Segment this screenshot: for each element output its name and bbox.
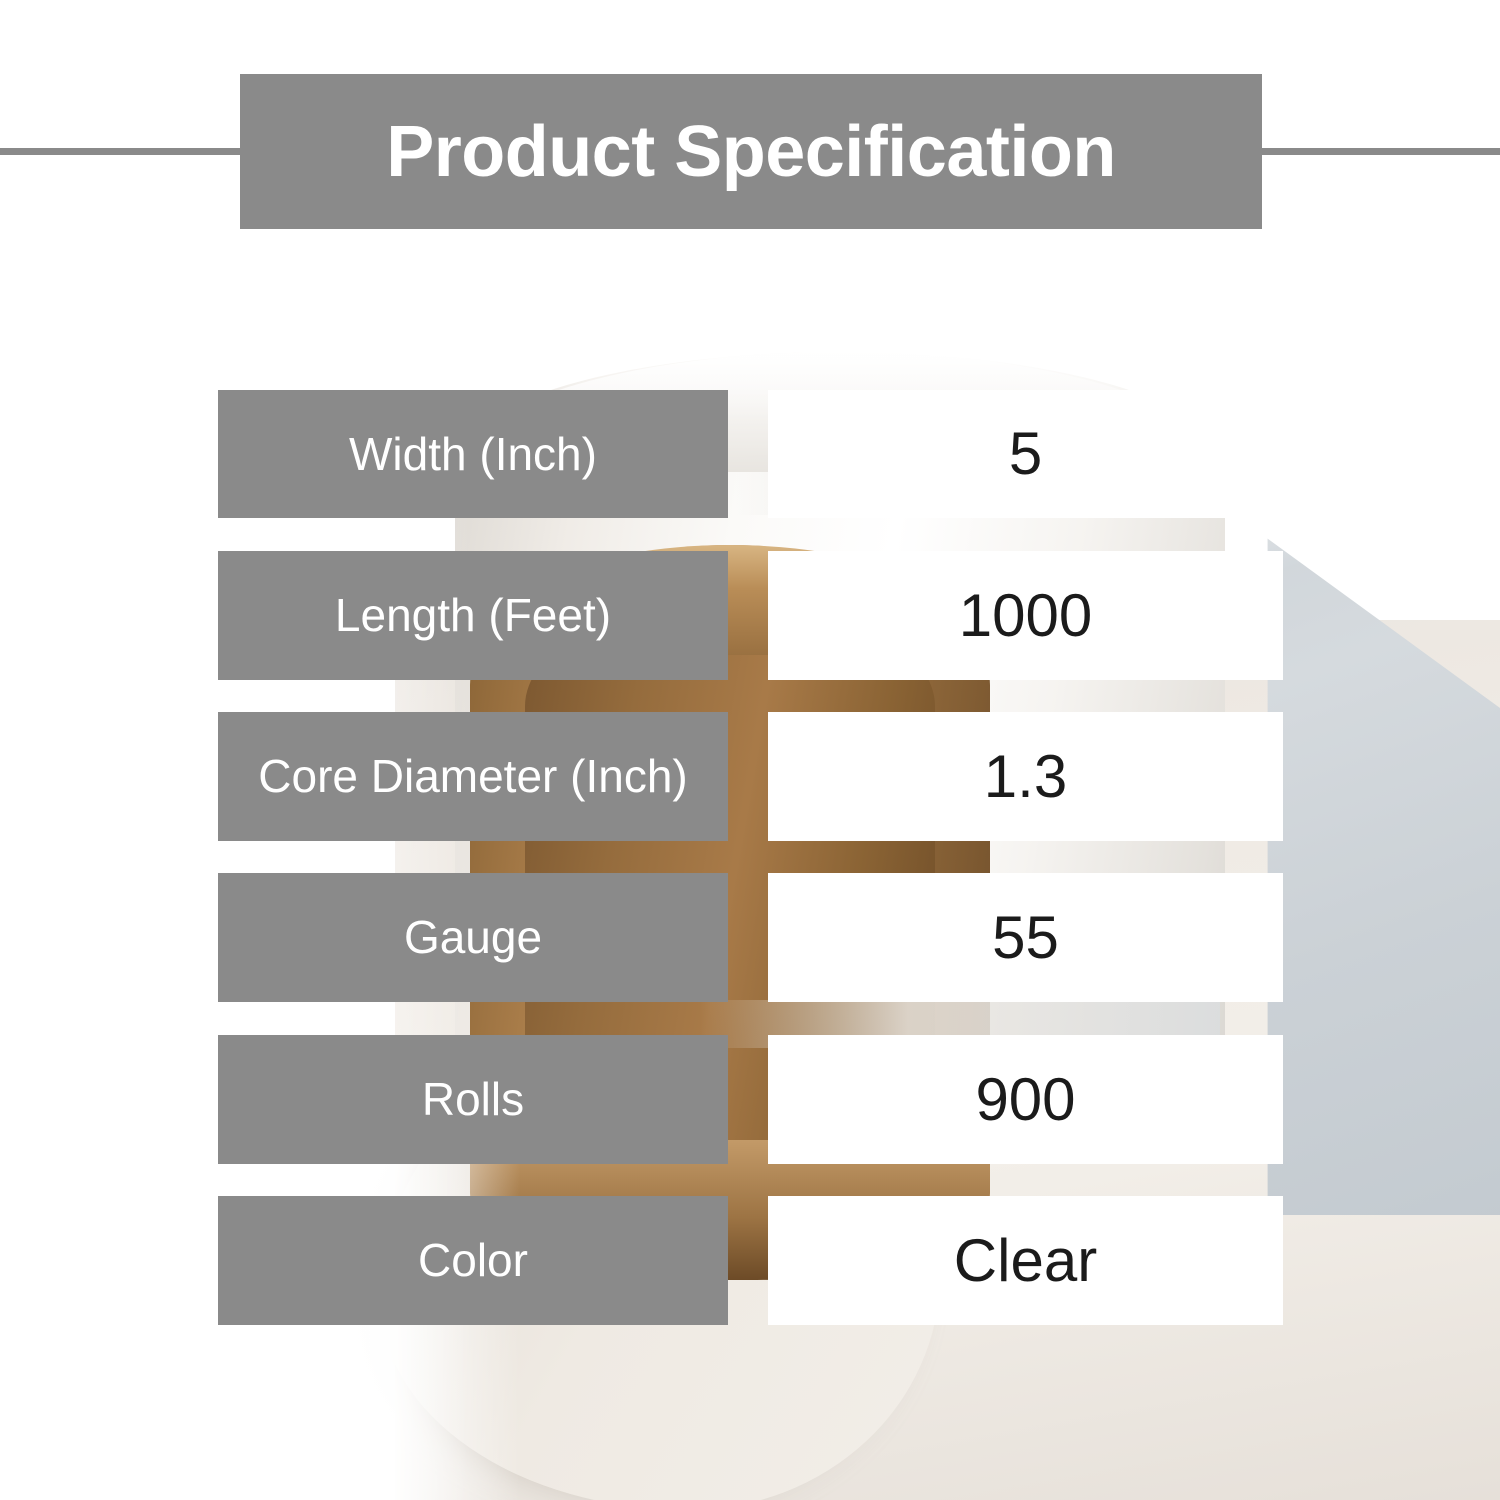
spec-label-rolls: Rolls xyxy=(218,1035,728,1164)
spec-label-core-diameter: Core Diameter (Inch) xyxy=(218,712,728,841)
spec-label-gauge: Gauge xyxy=(218,873,728,1002)
spec-value-length: 1000 xyxy=(768,551,1283,680)
spec-value-rolls: 900 xyxy=(768,1035,1283,1164)
spec-table: Width (Inch) 5 Length (Feet) 1000 Core D… xyxy=(0,0,1500,1500)
spec-value-color: Clear xyxy=(768,1196,1283,1325)
product-specification-image: Product Specification Width (Inch) 5 Len… xyxy=(0,0,1500,1500)
spec-label-color: Color xyxy=(218,1196,728,1325)
spec-label-width: Width (Inch) xyxy=(218,390,728,518)
spec-label-length: Length (Feet) xyxy=(218,551,728,680)
spec-value-width: 5 xyxy=(768,390,1283,518)
spec-value-gauge: 55 xyxy=(768,873,1283,1002)
spec-value-core-diameter: 1.3 xyxy=(768,712,1283,841)
